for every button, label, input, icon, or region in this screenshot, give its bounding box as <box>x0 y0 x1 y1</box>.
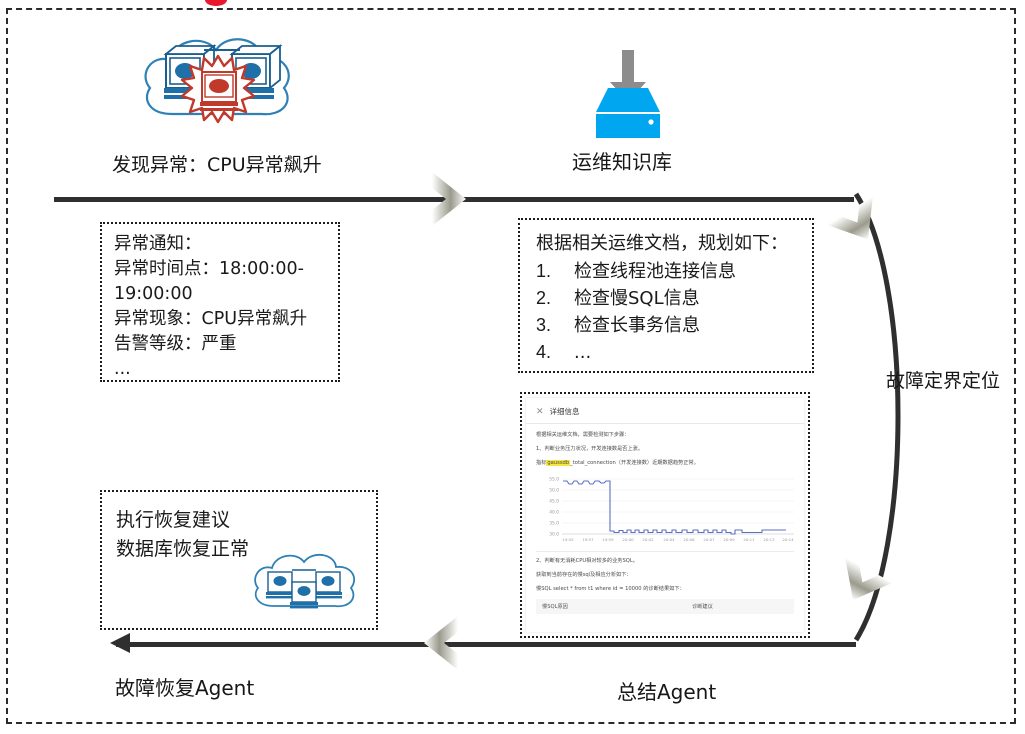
screenshot-header: ✕ 详细信息 <box>526 398 804 424</box>
screenshot-paragraph: 获取到当前存在的慢sql及相应分析如下： <box>536 571 794 579</box>
alert-line: 告警等级：严重 <box>114 332 328 357</box>
cloud-servers-alarm-icon <box>128 22 308 142</box>
screenshot-paragraph: 1、判断业务压力状况，开发连接数是否上涨。 <box>536 445 794 453</box>
chevron-left-bottom <box>420 614 462 672</box>
svg-text:30.0: 30.0 <box>549 532 559 538</box>
plan-item-label: ... <box>574 342 591 363</box>
svg-text:20:11: 20:11 <box>743 537 755 542</box>
cloud-servers-icon <box>244 548 364 620</box>
knowledge-base-label: 运维知识库 <box>572 146 672 175</box>
close-icon[interactable]: ✕ <box>536 407 544 416</box>
svg-text:20:13: 20:13 <box>763 537 775 542</box>
plan-item: 1.检查线程池连接信息 <box>536 258 804 285</box>
slow-sql-table-header: 慢SQL原因 诊断建议 <box>536 599 794 614</box>
plan-item-label: 检查线程池连接信息 <box>574 261 736 282</box>
alarm-burst <box>182 56 254 122</box>
svg-text:20:04: 20:04 <box>663 537 675 542</box>
plan-heading: 根据相关运维文档，规划如下： <box>536 230 804 258</box>
recovery-line: 执行恢复建议 <box>116 506 376 535</box>
connection-trend-chart: 55.0 50.0 45.0 40.0 35.0 30.0 <box>536 473 794 547</box>
flow-line-bottom <box>116 642 856 647</box>
svg-text:40.0: 40.0 <box>549 510 559 516</box>
plan-item-label: 检查慢SQL信息 <box>574 288 700 309</box>
screenshot-paragraph: 慢SQL select * from t1 where id = 10000 的… <box>536 585 794 593</box>
plan-item: 2.检查慢SQL信息 <box>536 285 804 312</box>
alert-line: ... <box>114 357 328 382</box>
screenshot-divider <box>536 551 794 552</box>
detail-screenshot-card: ✕ 详细信息 根据相关运维文档，需要检测如下步骤： 1、判断业务压力状况，开发连… <box>520 392 810 638</box>
alert-line: 异常通知： <box>114 232 328 257</box>
alert-line: 异常时间点：18:00:00- <box>114 257 328 282</box>
svg-text:19:57: 19:57 <box>582 537 594 542</box>
abnormal-notification-box: 异常通知： 异常时间点：18:00:00- 19:00:00 异常现象：CPU异… <box>100 222 340 382</box>
plan-box: 根据相关运维文档，规划如下： 1.检查线程池连接信息 2.检查慢SQL信息 3.… <box>518 218 814 373</box>
plan-item-number: 4. <box>536 339 574 366</box>
alert-line: 19:00:00 <box>114 282 328 307</box>
svg-text:45.0: 45.0 <box>549 499 559 505</box>
diagram-canvas: 发现异常：CPU异常飙升 运维知识库 <box>0 0 1025 734</box>
discover-label: 发现异常：CPU异常飙升 <box>112 150 322 177</box>
plan-list: 1.检查线程池连接信息 2.检查慢SQL信息 3.检查长事务信息 4.... <box>536 258 804 366</box>
inbox-download-icon <box>578 44 678 144</box>
plan-item-label: 检查长事务信息 <box>574 315 700 336</box>
svg-text:55.0: 55.0 <box>549 477 559 483</box>
svg-text:20:14: 20:14 <box>782 537 794 542</box>
screenshot-body: 根据相关运维文档，需要检测如下步骤： 1、判断业务压力状况，开发连接数是否上涨。… <box>526 424 804 614</box>
table-column-header: 诊断建议 <box>692 603 713 610</box>
summary-agent-label: 总结Agent <box>617 676 716 705</box>
svg-text:20:09: 20:09 <box>723 537 735 542</box>
highlight-token: gaussdb <box>546 460 570 466</box>
plan-item-number: 3. <box>536 312 574 339</box>
chevron-right-top <box>428 170 470 228</box>
screenshot-paragraph: 2、判断有无消耗CPU相对较多的业务SQL。 <box>536 557 794 565</box>
locate-agent-label: 故障定界定位 <box>886 366 1000 393</box>
plan-item: 4.... <box>536 339 804 366</box>
plan-item-number: 1. <box>536 258 574 285</box>
svg-text:20:00: 20:00 <box>622 537 634 542</box>
svg-text:19:59: 19:59 <box>602 537 614 542</box>
svg-text:20:07: 20:07 <box>703 537 715 542</box>
plan-item-number: 2. <box>536 285 574 312</box>
screenshot-paragraph-highlighted: 指标gaussdb_total_connection（开发连接数）近期数据趋势正… <box>536 459 794 467</box>
table-column-header: 慢SQL原因 <box>542 603 692 610</box>
svg-text:20:02: 20:02 <box>642 537 654 542</box>
svg-text:35.0: 35.0 <box>549 521 559 527</box>
screenshot-inner-panel: ✕ 详细信息 根据相关运维文档，需要检测如下步骤： 1、判断业务压力状况，开发连… <box>526 398 804 632</box>
screenshot-paragraph: 根据相关运维文档，需要检测如下步骤： <box>536 431 794 439</box>
alert-line: 异常现象：CPU异常飙升 <box>114 307 328 332</box>
flow-arrowhead-left <box>108 630 134 656</box>
recovery-agent-label: 故障恢复Agent <box>115 672 254 701</box>
screenshot-title: 详细信息 <box>550 406 580 417</box>
svg-text:19:55: 19:55 <box>562 537 574 542</box>
svg-text:20:06: 20:06 <box>683 537 695 542</box>
clipped-red-marker <box>205 0 227 6</box>
plan-item: 3.检查长事务信息 <box>536 312 804 339</box>
svg-text:50.0: 50.0 <box>549 488 559 494</box>
